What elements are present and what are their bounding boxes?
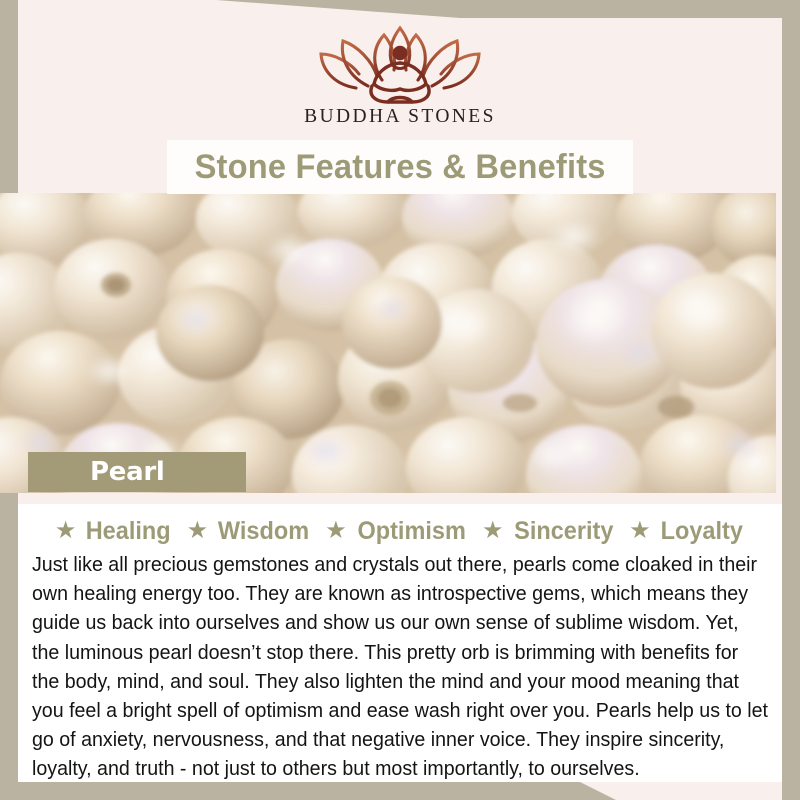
keyword-item: ★ Healing: [55, 517, 174, 546]
stone-name-band: Pearl: [28, 452, 246, 492]
decor-frame-bottom-left: [0, 782, 800, 800]
lotus-meditation-icon: [312, 18, 488, 104]
keyword-label: Loyalty: [660, 517, 742, 546]
brand-name: BUDDHA STONES: [304, 106, 496, 128]
star-icon: ★: [55, 519, 77, 543]
keyword-item: ★ Loyalty: [629, 517, 745, 546]
stone-name: Pearl: [90, 457, 164, 487]
star-icon: ★: [187, 519, 209, 543]
keyword-label: Optimism: [357, 517, 465, 546]
content-card: ★ Healing ★ Wisdom ★ Optimism ★ Sincerit…: [18, 504, 782, 782]
keyword-item: ★ Wisdom: [187, 517, 313, 546]
poster-root: BUDDHA STONES: [0, 0, 800, 800]
star-icon: ★: [325, 519, 347, 543]
body-paragraph: Just like all precious gemstones and cry…: [32, 551, 768, 785]
keyword-label: Healing: [86, 517, 171, 546]
keyword-label: Sincerity: [514, 517, 613, 546]
page-title: Stone Features & Benefits: [194, 148, 605, 187]
star-icon: ★: [629, 519, 651, 543]
page-title-band: Stone Features & Benefits: [167, 140, 633, 194]
brand-header: BUDDHA STONES: [0, 18, 800, 143]
keyword-item: ★ Sincerity: [482, 517, 616, 546]
hero-image: [0, 193, 776, 493]
keyword-label: Wisdom: [218, 517, 309, 546]
decor-frame-top-right: [0, 0, 800, 18]
keyword-list: ★ Healing ★ Wisdom ★ Optimism ★ Sincerit…: [32, 512, 768, 550]
star-icon: ★: [482, 519, 504, 543]
keyword-item: ★ Optimism: [325, 517, 469, 546]
